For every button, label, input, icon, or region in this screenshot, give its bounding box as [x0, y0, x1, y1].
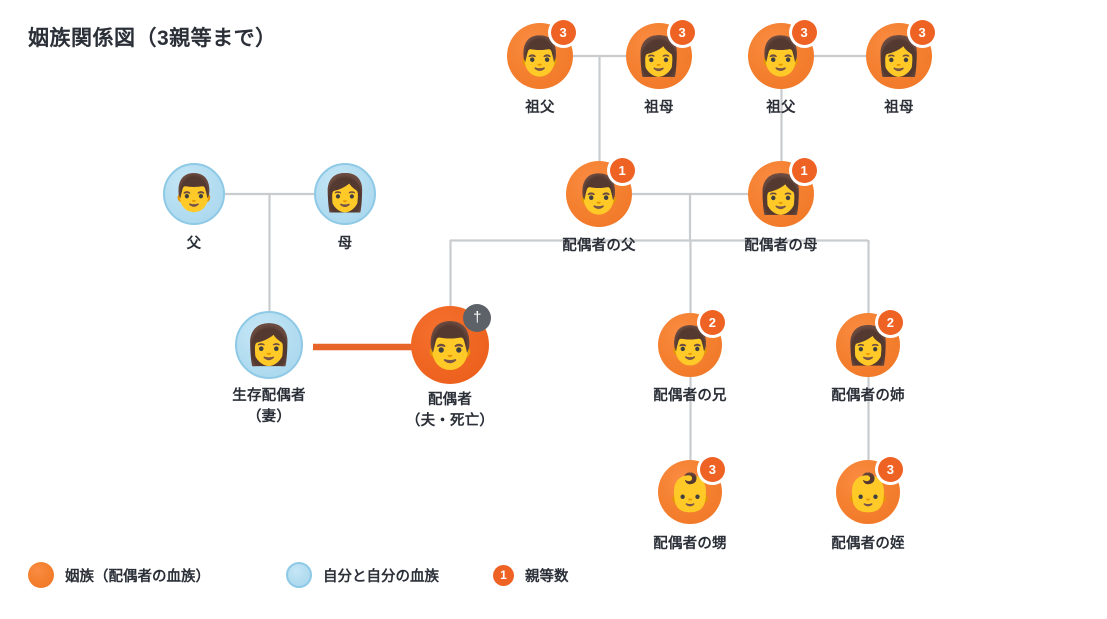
degree-badge: 2	[700, 310, 725, 335]
person-label-maternal-grandmother: 祖母	[789, 98, 1009, 119]
legend-degree-badge-icon: 1	[493, 565, 514, 586]
degree-badge: 3	[792, 20, 817, 45]
person-label-spouse-sister: 配偶者の姉	[758, 386, 978, 407]
person-label-spouse-niece: 配偶者の姪	[758, 534, 978, 555]
legend-own-blood: 自分と自分の血族	[286, 562, 439, 588]
degree-badge: 1	[610, 158, 635, 183]
avatar-bubble-surviving-spouse[interactable]: 👩	[235, 311, 303, 379]
degree-badge: 3	[878, 457, 903, 482]
degree-badge: 3	[670, 20, 695, 45]
degree-badge: 3	[551, 20, 576, 45]
degree-badge: 1	[792, 158, 817, 183]
face-icon: 👨	[172, 176, 217, 212]
person-label-spouse-mother: 配偶者の母	[671, 236, 891, 257]
connector-lines	[0, 0, 1107, 619]
degree-badge: 3	[700, 457, 725, 482]
person-label-own-mother: 母	[235, 234, 455, 255]
face-icon: 👩	[323, 176, 368, 212]
family-tree-diagram: 姻族関係図（3親等まで）	[0, 0, 1107, 619]
legend-degree: 1親等数	[493, 565, 569, 586]
avatar-bubble-own-mother[interactable]: 👩	[314, 163, 376, 225]
avatar-bubble-own-father[interactable]: 👨	[163, 163, 225, 225]
person-label-deceased-spouse: 配偶者 （夫・死亡）	[340, 390, 560, 431]
legend-label: 自分と自分の血族	[323, 565, 439, 586]
deceased-badge: †	[463, 304, 491, 332]
legend-orange-dot-icon	[28, 562, 54, 588]
degree-badge: 3	[910, 20, 935, 45]
legend-affinity: 姻族（配偶者の血族）	[28, 562, 210, 588]
page-title: 姻族関係図（3親等まで）	[28, 22, 277, 52]
face-icon: 👩	[245, 326, 294, 365]
legend-label: 親等数	[525, 565, 569, 586]
degree-badge: 2	[878, 310, 903, 335]
legend-label: 姻族（配偶者の血族）	[65, 565, 210, 586]
legend-blue-dot-icon	[286, 562, 312, 588]
